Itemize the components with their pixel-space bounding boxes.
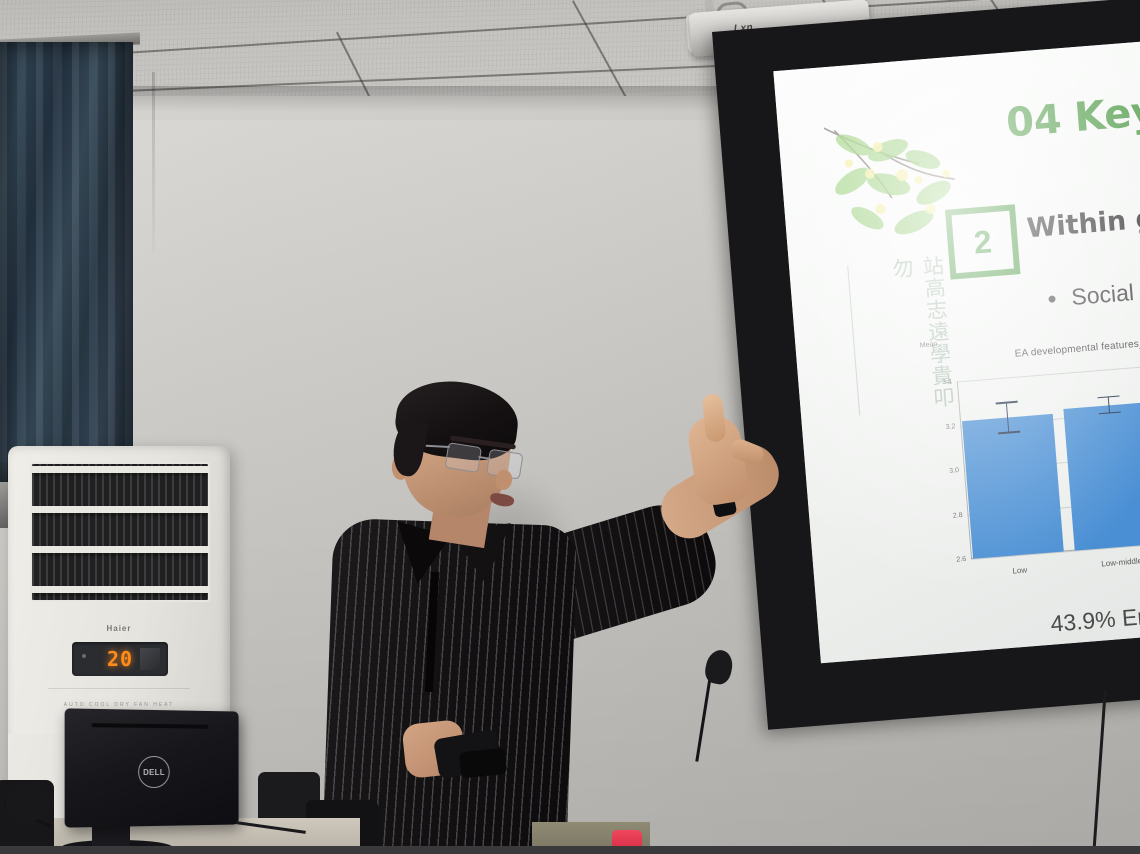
ac-temperature-display[interactable]: 20 [72,642,168,676]
dell-logo: DELL [138,756,170,788]
ac-louver [32,506,208,513]
ac-brand-label: Haier [8,624,230,633]
ac-air-vent [30,462,210,602]
ac-indicator-dot [82,654,86,658]
ac-divider [48,688,190,689]
classroom-photo: Lxn [0,0,1140,854]
glasses-lens-left [444,442,482,473]
ac-display-panel-graphic [140,648,160,670]
projector-glare [773,33,1140,663]
projector-screen-frame: 站高志遠學貴叩勿 04 Key Findings 2 Within group … [712,0,1140,730]
microphone-windscreen [1,778,55,828]
monitor-vent [92,723,209,729]
presenter [300,386,770,854]
wall-corner [152,72,155,252]
presenter-mouth [489,492,515,509]
handheld-remote-body [459,748,507,779]
ac-louver [32,466,208,473]
microphone-capsule [703,648,736,687]
ac-louver [32,546,208,553]
microphone-left[interactable] [6,784,52,824]
ac-vent-texture [32,464,208,600]
ac-mode-labels: AUTO COOL DRY FAN HEAT [8,702,230,708]
ac-temperature-value: 20 [107,647,133,671]
projected-slide-surface: 站高志遠學貴叩勿 04 Key Findings 2 Within group … [773,33,1140,663]
dell-monitor[interactable]: DELL [65,708,239,827]
ac-louver [32,586,208,593]
microphone-right[interactable] [700,650,740,710]
floor-edge [0,846,1140,854]
window-curtain[interactable] [0,42,133,482]
presenter-pointing-finger [702,393,727,443]
